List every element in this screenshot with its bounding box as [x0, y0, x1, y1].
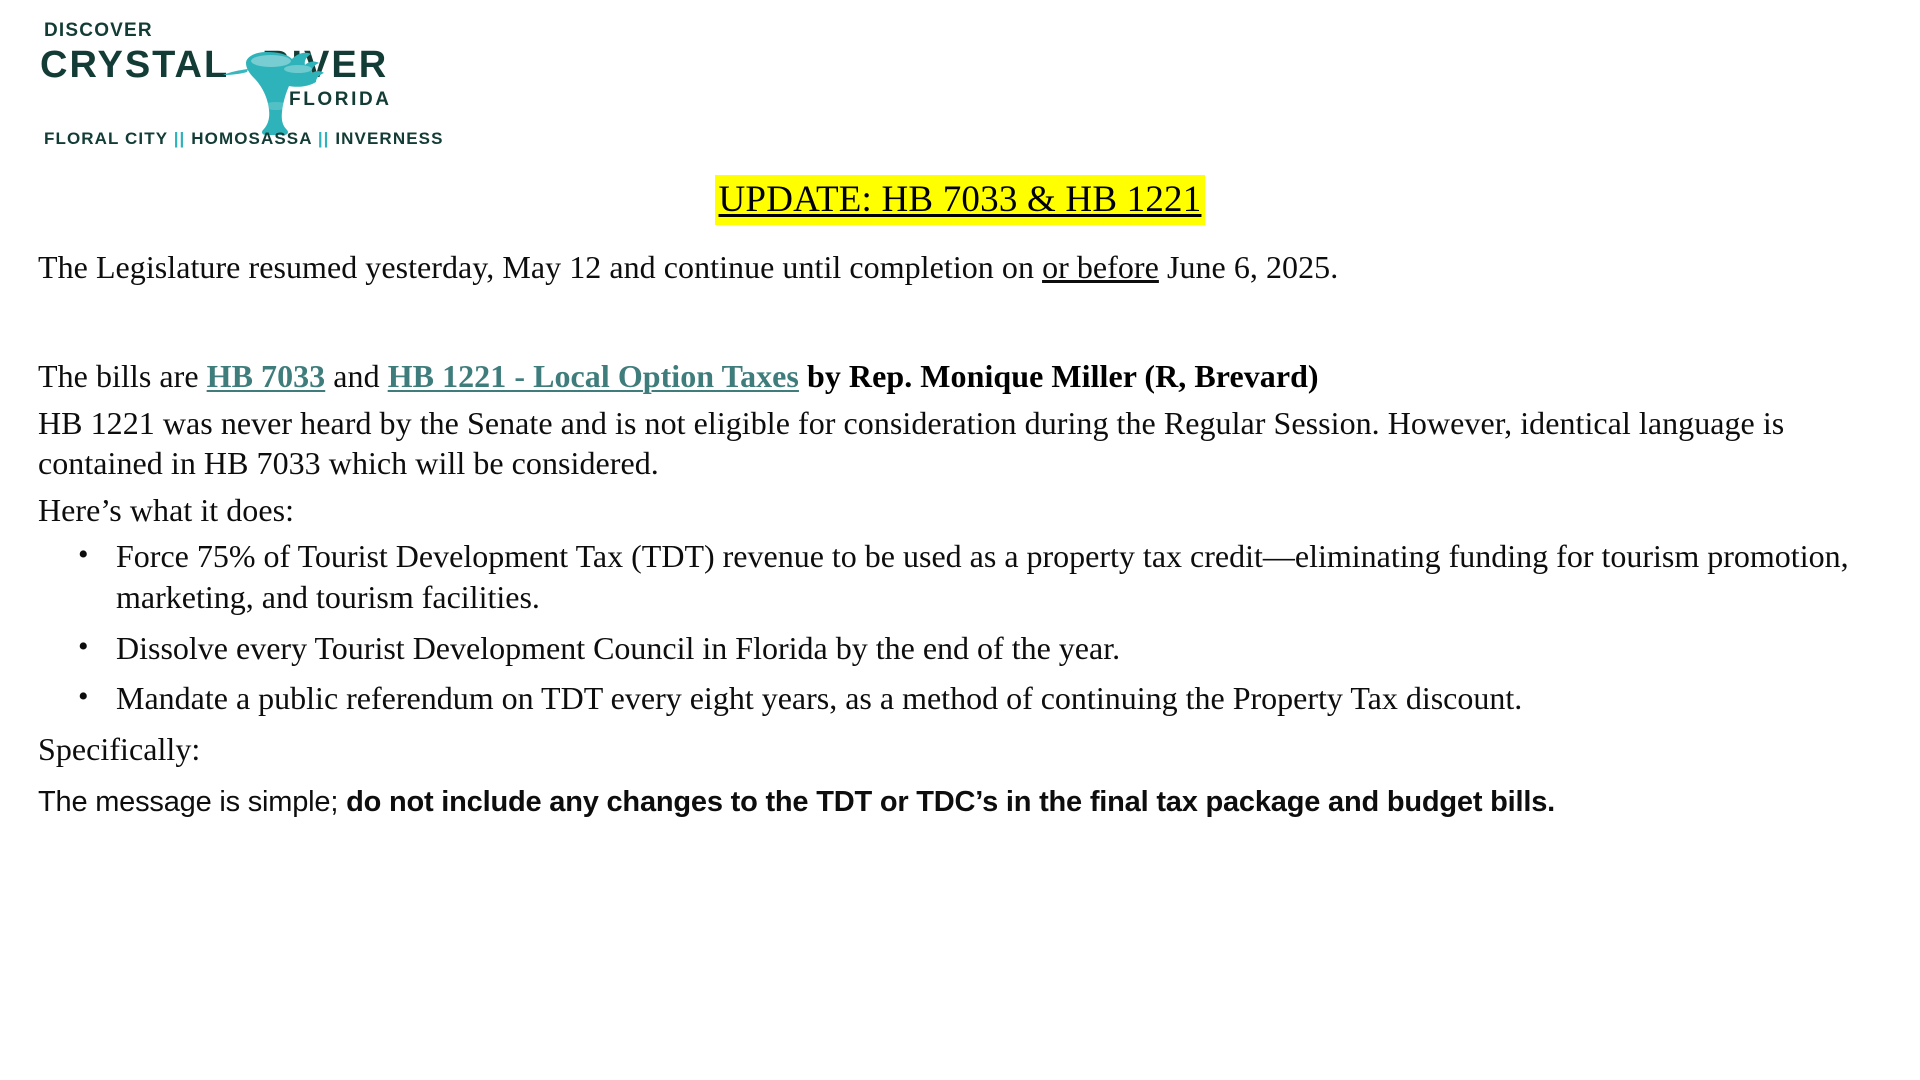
list-item: •Force 75% of Tourist Development Tax (T…	[38, 536, 1882, 617]
paragraph-spacer	[38, 294, 1882, 356]
status-paragraph: HB 1221 was never heard by the Senate an…	[38, 403, 1882, 484]
closing-message: The message is simple; do not include an…	[38, 784, 1882, 822]
document-body: UPDATE: HB 7033 & HB 1221 The Legislatur…	[0, 175, 1920, 821]
bullet-glyph-icon: •	[78, 628, 89, 666]
list-item-text: Dissolve every Tourist Development Counc…	[116, 630, 1120, 666]
logo-florida-text: FLORIDA	[289, 89, 392, 110]
intro-text-after: June 6, 2025.	[1159, 249, 1338, 285]
logo-tagline-homosassa: HOMOSASSA	[191, 129, 312, 148]
logo-svg: DISCOVER CRYSTAL RIVER FLORIDA FLORAL CI…	[40, 14, 460, 169]
intro-underlined-phrase: or before	[1042, 249, 1159, 285]
logo-crystal-text: CRYSTAL	[40, 44, 229, 86]
list-item: •Mandate a public referendum on TDT ever…	[38, 678, 1882, 719]
specifically-label: Specifically:	[38, 729, 1882, 770]
effects-bullet-list: •Force 75% of Tourist Development Tax (T…	[38, 536, 1882, 719]
logo-discover-text: DISCOVER	[44, 20, 153, 41]
bullet-glyph-icon: •	[78, 536, 89, 574]
link-hb-7033[interactable]: HB 7033	[207, 358, 326, 394]
logo-tagline-sep-1: ||	[174, 129, 192, 148]
closing-normal-text: The message is simple;	[38, 786, 346, 818]
intro-text-before: The Legislature resumed yesterday, May 1…	[38, 249, 1042, 285]
page-title: UPDATE: HB 7033 & HB 1221	[715, 175, 1206, 225]
document-title-row: UPDATE: HB 7033 & HB 1221	[38, 175, 1882, 225]
heres-what-it-does-label: Here’s what it does:	[38, 490, 1882, 531]
bullet-glyph-icon: •	[78, 678, 89, 716]
list-item-text: Force 75% of Tourist Development Tax (TD…	[116, 538, 1849, 615]
bills-middle-text: and	[325, 358, 387, 394]
logo-tagline: FLORAL CITY || HOMOSASSA || INVERNESS	[44, 129, 444, 148]
closing-bold-text: do not include any changes to the TDT or…	[346, 786, 1555, 818]
list-item: •Dissolve every Tourist Development Coun…	[38, 628, 1882, 669]
intro-paragraph: The Legislature resumed yesterday, May 1…	[38, 247, 1882, 288]
discover-crystal-river-logo: DISCOVER CRYSTAL RIVER FLORIDA FLORAL CI…	[40, 14, 460, 169]
bill-sponsor-text: by Rep. Monique Miller (R, Brevard)	[799, 358, 1319, 394]
bills-paragraph: The bills are HB 7033 and HB 1221 - Loca…	[38, 356, 1882, 397]
logo-tagline-sep-2: ||	[318, 129, 336, 148]
logo-tagline-inverness: INVERNESS	[335, 129, 443, 148]
bills-lead-text: The bills are	[38, 358, 207, 394]
list-item-text: Mandate a public referendum on TDT every…	[116, 680, 1522, 716]
logo-tagline-floral-city: FLORAL CITY	[44, 129, 168, 148]
link-hb-1221-local-option-taxes[interactable]: HB 1221 - Local Option Taxes	[388, 358, 799, 394]
